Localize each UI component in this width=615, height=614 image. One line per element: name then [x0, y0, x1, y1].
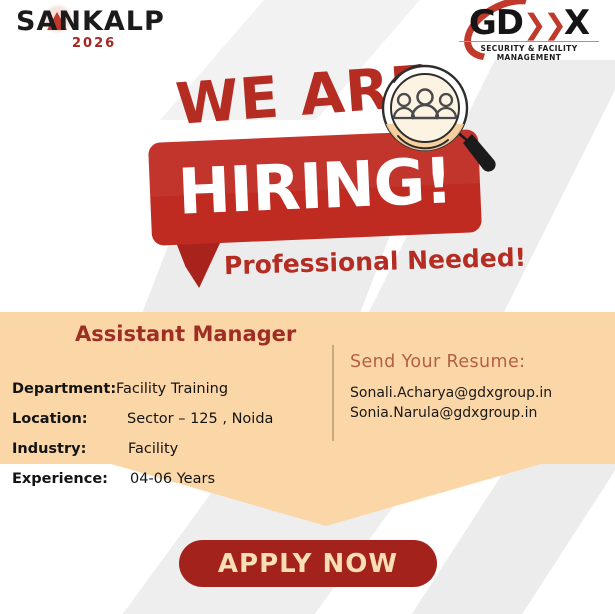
field-row-department: Department: Facility Training — [12, 381, 312, 397]
gdx-logo: GD❯❯X SECURITY & FACILITY MANAGEMENT — [459, 6, 599, 62]
sankalp-logo: SANKALP 2026 — [16, 8, 176, 51]
email-address-1[interactable]: Sonali.Acharya@gdxgroup.in — [350, 383, 552, 403]
gdx-tagline: SECURITY & FACILITY MANAGEMENT — [459, 41, 599, 62]
field-value-department: Facility Training — [116, 381, 228, 397]
send-resume-heading: Send Your Resume: — [350, 352, 552, 372]
hiring-poster: SANKALP 2026 GD❯❯X SECURITY & FACILITY M… — [0, 0, 615, 614]
magnifying-glass-people-icon — [368, 56, 500, 185]
gdx-chevron-icon: ❯❯ — [523, 8, 564, 41]
gdx-letter-x: X — [564, 3, 589, 43]
field-value-experience: 04-06 Years — [116, 471, 215, 487]
job-fields-list: Department: Facility Training Location: … — [12, 381, 312, 501]
apply-now-button[interactable]: APPLY NOW — [179, 540, 437, 587]
sankalp-year: 2026 — [72, 36, 176, 51]
field-row-location: Location: Sector – 125 , Noida — [12, 411, 312, 427]
field-label-experience: Experience: — [12, 471, 116, 487]
field-label-location: Location: — [12, 411, 116, 427]
sankalp-name: SANKALP — [16, 6, 165, 37]
sankalp-wordmark: SANKALP — [16, 8, 176, 35]
field-value-location: Sector – 125 , Noida — [116, 411, 273, 427]
field-row-experience: Experience: 04-06 Years — [12, 471, 312, 487]
hero-section: WE ARE HIRING! Professional Needed! — [0, 0, 615, 614]
hero-subtitle: Professional Needed! — [224, 243, 527, 280]
field-label-department: Department: — [12, 381, 116, 397]
send-resume-block: Send Your Resume: Sonali.Acharya@gdxgrou… — [350, 352, 552, 424]
email-address-2[interactable]: Sonia.Narula@gdxgroup.in — [350, 403, 552, 423]
vertical-divider — [332, 345, 334, 441]
gdx-letter-d: D — [496, 3, 523, 43]
gdx-wordmark: GD❯❯X — [469, 6, 589, 40]
field-label-industry: Industry: — [12, 441, 116, 457]
gdx-letter-g: G — [469, 3, 496, 43]
field-value-industry: Facility — [116, 441, 178, 457]
field-row-industry: Industry: Facility — [12, 441, 312, 457]
job-title: Assistant Manager — [75, 322, 296, 346]
